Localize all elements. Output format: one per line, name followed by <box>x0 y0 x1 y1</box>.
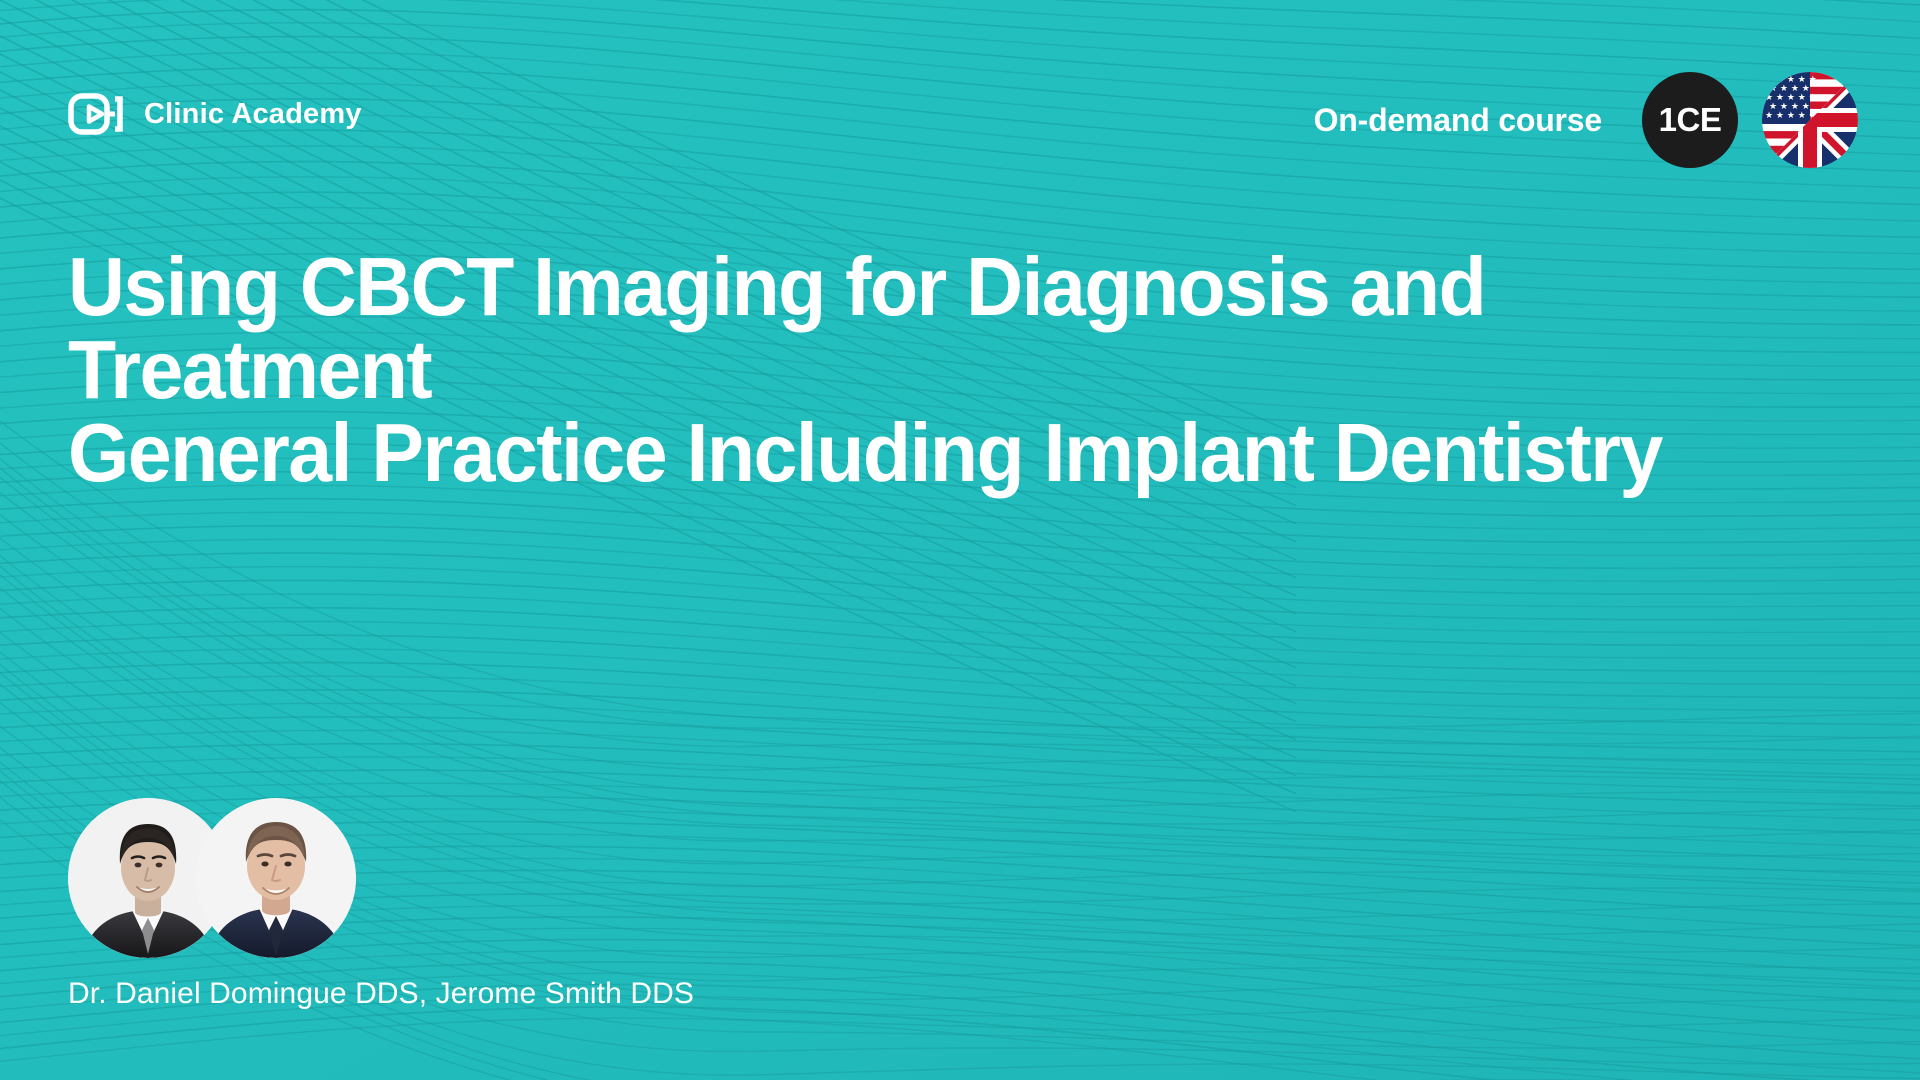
page-title: Using CBCT Imaging for Diagnosis and Tre… <box>68 245 1778 494</box>
header-right-group: On-demand course 1CE <box>1314 72 1858 168</box>
top-bar: Clinic Academy On-demand course 1CE <box>0 0 1920 200</box>
presenters-block: Dr. Daniel Domingue DDS, Jerome Smith DD… <box>68 798 1068 1012</box>
video-camera-icon <box>68 90 128 138</box>
presenter-avatar-row <box>68 798 1068 958</box>
course-type-label: On-demand course <box>1314 104 1602 136</box>
us-uk-flag-icon: ★ ★ ★ ★ ★ ★ ★ ★ ★ ★ ★ ★ ★ ★ ★ ★ ★ ★ ★ ★ … <box>1762 72 1858 168</box>
title-block: Using CBCT Imaging for Diagnosis and Tre… <box>68 245 1868 494</box>
brand-logo[interactable]: Clinic Academy <box>68 90 362 138</box>
presenter-avatar-2 <box>196 798 356 958</box>
presenter-names-label: Dr. Daniel Domingue DDS, Jerome Smith DD… <box>68 976 1068 1012</box>
brand-name-label: Clinic Academy <box>144 100 362 129</box>
svg-text:★ ★ ★ ★ ★: ★ ★ ★ ★ ★ <box>1765 111 1817 121</box>
ce-credit-badge: 1CE <box>1642 72 1738 168</box>
course-banner-slide: Clinic Academy On-demand course 1CE <box>0 0 1920 1080</box>
